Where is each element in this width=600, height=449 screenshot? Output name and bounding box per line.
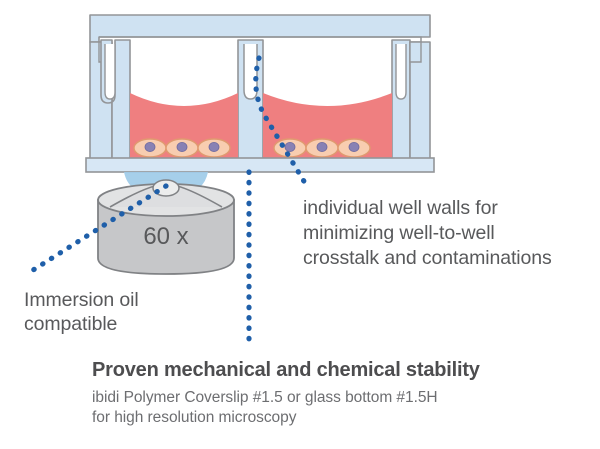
microscope-objective: 60 x [98,180,234,274]
port-slot-left [105,44,115,99]
cell [134,139,166,157]
cell [198,139,230,157]
chamber-lid [90,15,430,42]
port-slot-right [396,44,406,99]
callout-line: minimizing well-to-well [303,221,593,246]
immersion-oil-callout: Immersion oil compatible [24,288,224,336]
figure-canvas: 60 x individual well walls for minimizin… [0,0,600,449]
cell [166,139,198,157]
well-wall-right-notch [410,42,421,62]
cells-left-well [134,139,230,157]
callout-line: for high resolution microscopy [92,408,512,428]
stability-callout-title: Proven mechanical and chemical stability [92,358,512,382]
callout-line: individual well walls for [303,196,593,221]
callout-line: crosstalk and contaminations [303,246,593,271]
callout-line: ibidi Polymer Coverslip #1.5 or glass bo… [92,388,512,408]
objective-magnification-label: 60 x [143,223,188,250]
cell [306,139,338,157]
individual-well-walls-callout: individual well walls for minimizing wel… [303,196,593,271]
polymer-coverslip [86,158,434,172]
stability-callout-subtitle: ibidi Polymer Coverslip #1.5 or glass bo… [92,388,512,427]
callout-line: Immersion oil [24,288,224,312]
cell [338,139,370,157]
callout-line: compatible [24,312,224,336]
